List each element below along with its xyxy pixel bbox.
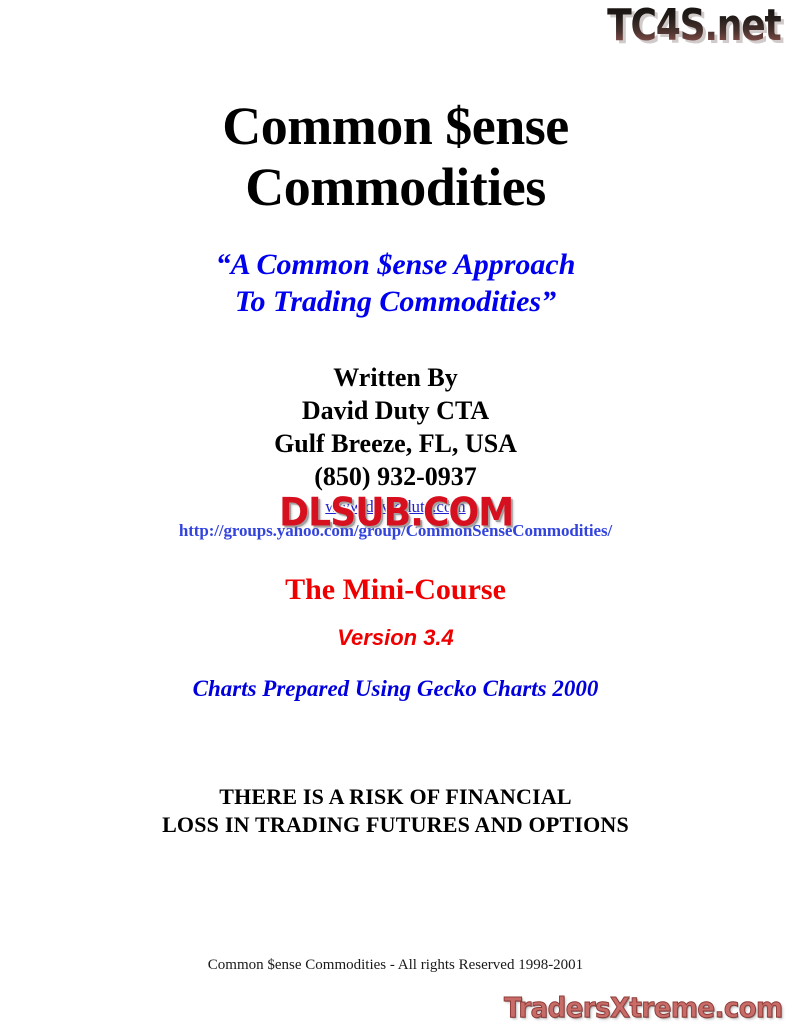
subtitle-line-2: To Trading Commodities” [0,283,791,320]
cover-content: Common $ense Commodities “A Common $ense… [0,0,791,838]
tradersxtreme-watermark: TradersXtreme.com [504,994,783,1022]
cover-page: TC4S.net TC4S.net Common $ense Commoditi… [0,0,791,1024]
version-label: Version 3.4 [0,606,791,650]
author-line-phone: (850) 932-0937 [0,461,791,494]
subtitle-tagline: “A Common $ense Approach To Trading Comm… [0,218,791,320]
risk-disclaimer-line-2: LOSS IN TRADING FUTURES AND OPTIONS [0,811,791,838]
charts-credit-note: Charts Prepared Using Gecko Charts 2000 [0,650,791,701]
dlsub-com-watermark-text: DLSUB.COM [279,492,513,531]
author-line-location: Gulf Breeze, FL, USA [0,428,791,461]
dlsub-com-watermark: DLSUB.COM [252,491,540,532]
title-line-1: Common $ense [0,96,791,157]
title-line-2: Commodities [0,157,791,218]
page-title: Common $ense Commodities [0,0,791,218]
author-block: Written By David Duty CTA Gulf Breeze, F… [0,320,791,493]
course-name: The Mini-Course [0,541,791,606]
subtitle-line-1: “A Common $ense Approach [0,246,791,283]
risk-disclaimer-line-1: THERE IS A RISK OF FINANCIAL [0,783,791,810]
footer-copyright: Common $ense Commodities - All rights Re… [0,957,791,974]
risk-disclaimer: THERE IS A RISK OF FINANCIAL LOSS IN TRA… [0,701,791,838]
author-line-written-by: Written By [0,362,791,395]
author-line-name: David Duty CTA [0,395,791,428]
